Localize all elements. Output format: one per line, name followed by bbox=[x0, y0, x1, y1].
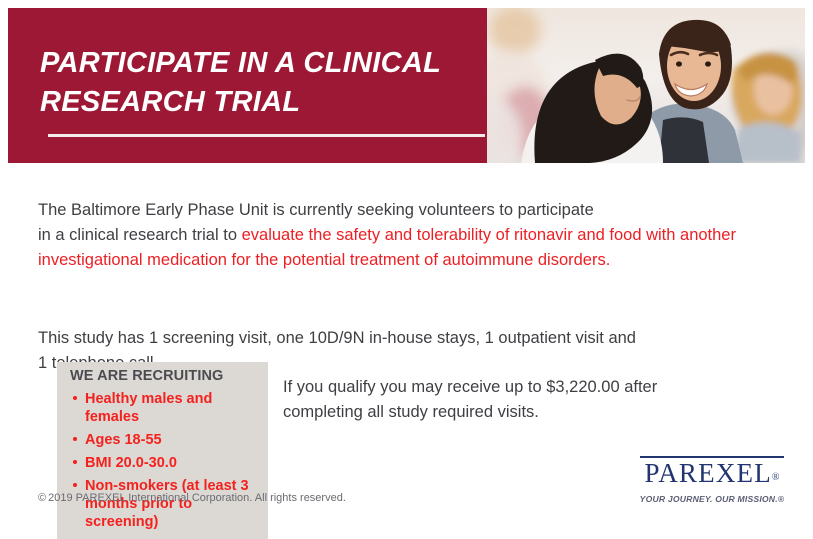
clinical-trial-flyer: PARTICIPATE IN A CLINICAL RESEARCH TRIAL bbox=[0, 0, 813, 539]
logo-tagline: YOUR JOURNEY. OUR MISSION.® bbox=[637, 494, 787, 504]
list-item-label: Non-smokers (at least 3 months prior to … bbox=[85, 478, 249, 530]
list-item: Healthy males and females bbox=[67, 390, 263, 426]
copyright-notice: ©2019 PAREXEL International Corporation.… bbox=[38, 492, 346, 504]
parexel-logo: PAREXEL® YOUR JOURNEY. OUR MISSION.® bbox=[637, 456, 787, 504]
page-title-line-2: RESEARCH TRIAL bbox=[40, 83, 470, 122]
bullet-dot-icon bbox=[73, 483, 77, 487]
logo-wordmark: PAREXEL® bbox=[637, 459, 787, 492]
header-photo bbox=[487, 8, 805, 163]
list-item: BMI 20.0-30.0 bbox=[67, 454, 263, 472]
bullet-dot-icon bbox=[73, 396, 77, 400]
logo-wordmark-text: PAREXEL bbox=[644, 458, 771, 488]
copyright-text: 2019 PAREXEL International Corporation. … bbox=[48, 492, 346, 504]
bullet-dot-icon bbox=[73, 460, 77, 464]
people-photo-illustration bbox=[487, 8, 805, 163]
page-title-line-1: PARTICIPATE IN A CLINICAL bbox=[40, 44, 470, 83]
bullet-dot-icon bbox=[73, 437, 77, 441]
list-item-label: Ages 18-55 bbox=[85, 432, 162, 448]
title-underline-rule bbox=[48, 134, 485, 137]
intro-paragraph: The Baltimore Early Phase Unit is curren… bbox=[38, 198, 798, 273]
page-title: PARTICIPATE IN A CLINICAL RESEARCH TRIAL bbox=[40, 44, 470, 122]
compensation-paragraph: If you qualify you may receive up to $3,… bbox=[283, 375, 703, 425]
list-item-label: Healthy males and females bbox=[85, 391, 212, 425]
copyright-symbol-icon: © bbox=[38, 492, 46, 504]
header-banner: PARTICIPATE IN A CLINICAL RESEARCH TRIAL bbox=[8, 8, 487, 163]
registered-mark-icon: ® bbox=[772, 472, 780, 483]
recruiting-criteria-list: Healthy males and females Ages 18-55 BMI… bbox=[67, 390, 263, 536]
list-item-label: BMI 20.0-30.0 bbox=[85, 455, 177, 471]
list-item: Ages 18-55 bbox=[67, 431, 263, 449]
list-item: Non-smokers (at least 3 months prior to … bbox=[67, 477, 263, 531]
recruiting-heading: WE ARE RECRUITING bbox=[70, 368, 223, 384]
recruiting-criteria-box: WE ARE RECRUITING Healthy males and fema… bbox=[57, 362, 268, 539]
